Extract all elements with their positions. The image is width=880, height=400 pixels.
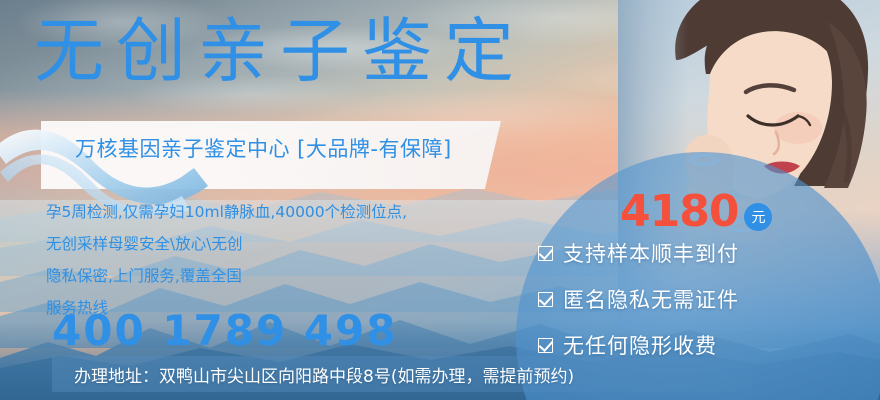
list-item: 支持样本顺丰到付: [538, 238, 739, 268]
feature-label: 无任何隐形收费: [563, 330, 717, 360]
checkbox-check-icon: [538, 246, 553, 261]
body-line-1: 孕5周检测,仅需孕妇10ml静脉血,40000个检测位点,: [46, 196, 407, 228]
office-address-text: 办理地址：双鸭山市尖山区向阳路中段8号(如需办理，需提前预约): [74, 362, 574, 387]
feature-list: 支持样本顺丰到付 匿名隐私无需证件 无任何隐形收费: [538, 238, 739, 360]
promo-banner: 无创亲子鉴定 万核基因亲子鉴定中心 [大品牌-有保障] 孕5周检测,: [0, 0, 880, 400]
hotline-phone-number[interactable]: 400 1789 498: [52, 306, 397, 355]
body-copy-block: 孕5周检测,仅需孕妇10ml静脉血,40000个检测位点, 无创采样母婴安全\放…: [46, 196, 407, 324]
subtitle-text: 万核基因亲子鉴定中心 [大品牌-有保障]: [75, 133, 452, 163]
list-item: 无任何隐形收费: [538, 330, 739, 360]
checkbox-check-icon: [538, 292, 553, 307]
checkbox-check-icon: [538, 338, 553, 353]
price-currency-badge: 元: [744, 203, 772, 231]
feature-label: 匿名隐私无需证件: [563, 284, 739, 314]
feature-label: 支持样本顺丰到付: [563, 238, 739, 268]
price-amount: 4180: [620, 190, 738, 234]
page-title: 无创亲子鉴定: [34, 16, 526, 86]
body-line-3: 隐私保密,上门服务,覆盖全国: [46, 260, 407, 292]
price-block: 4180 元: [620, 190, 772, 234]
body-line-2: 无创采样母婴安全\放心\无创: [46, 228, 407, 260]
list-item: 匿名隐私无需证件: [538, 284, 739, 314]
